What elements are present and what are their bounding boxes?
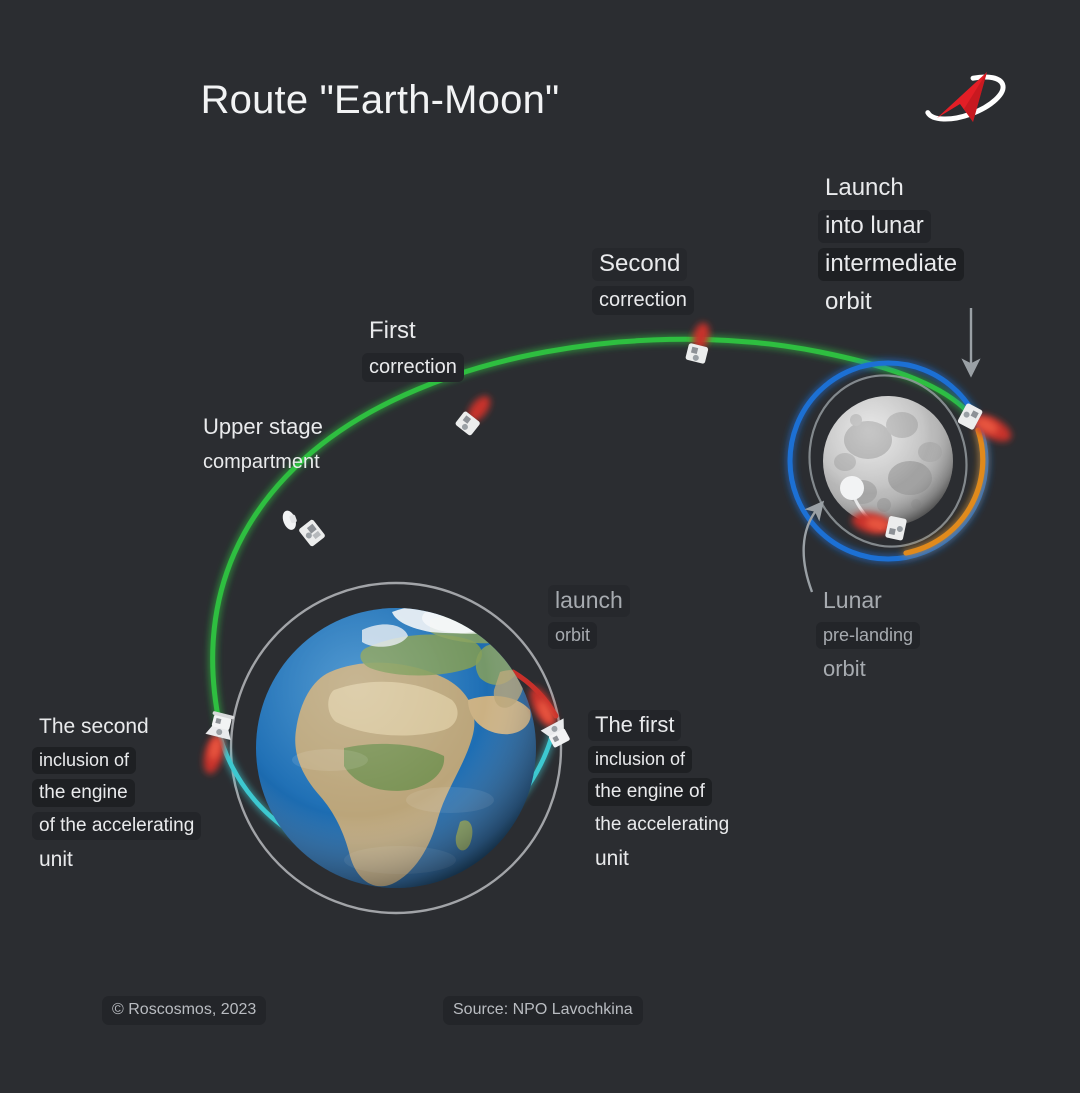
spacecraft-first-correction	[455, 391, 497, 436]
spacecraft-upper-stage	[275, 500, 325, 554]
infographic-root: Route "Earth-Moon" Launch into lunar int…	[0, 0, 1080, 1093]
label-line: launch	[548, 585, 630, 617]
label-launch-orbit: launch orbit	[548, 585, 630, 654]
source-credit: Source: NPO Lavochkina	[443, 996, 643, 1025]
copyright-credit: © Roscosmos, 2023	[102, 996, 266, 1025]
label-line: inclusion of	[588, 746, 692, 773]
label-line: orbit	[818, 286, 879, 319]
diagram-canvas	[0, 0, 1080, 1093]
label-line: unit	[32, 845, 80, 875]
label-line: The second	[32, 712, 156, 742]
label-line: The first	[588, 710, 681, 741]
label-second-correction: Second correction	[592, 248, 694, 320]
label-line: Lunar	[816, 585, 889, 617]
label-first-engine-ignition: The first inclusion of the engine of the…	[588, 710, 736, 879]
label-line: orbit	[548, 622, 597, 649]
label-line: pre-landing	[816, 622, 920, 649]
label-lunar-prelanding-orbit: Lunar pre-landing orbit	[816, 585, 920, 690]
page-title: Route "Earth-Moon"	[0, 78, 760, 123]
earth-body	[256, 600, 536, 888]
label-line: the engine of	[588, 778, 712, 806]
label-line: into lunar	[818, 210, 931, 243]
label-line: First	[362, 315, 423, 348]
label-second-engine-ignition: The second inclusion of the engine of th…	[32, 712, 201, 880]
label-line: the accelerating	[588, 811, 736, 839]
label-line: Launch	[818, 172, 911, 205]
spacecraft-second-correction	[685, 321, 714, 365]
label-line: Second	[592, 248, 687, 281]
label-upper-stage-compartment: Upper stage compartment	[196, 412, 330, 482]
label-line: correction	[362, 353, 464, 382]
roscosmos-logo	[915, 68, 1015, 130]
label-line: orbit	[816, 654, 873, 685]
label-line: inclusion of	[32, 747, 136, 774]
label-line: compartment	[196, 448, 327, 477]
label-line: unit	[588, 844, 636, 874]
label-line: correction	[592, 286, 694, 315]
source-text: Source: NPO Lavochkina	[443, 996, 643, 1025]
copyright-text: © Roscosmos, 2023	[102, 996, 266, 1025]
moon-body	[823, 396, 953, 526]
label-line: Upper stage	[196, 412, 330, 443]
arrow-to-prelanding-orbit	[804, 508, 818, 592]
label-line: the engine	[32, 779, 135, 807]
label-line: intermediate	[818, 248, 964, 281]
label-first-correction: First correction	[362, 315, 464, 387]
label-launch-into-lunar-orbit: Launch into lunar intermediate orbit	[818, 172, 964, 324]
label-line: of the accelerating	[32, 812, 201, 840]
